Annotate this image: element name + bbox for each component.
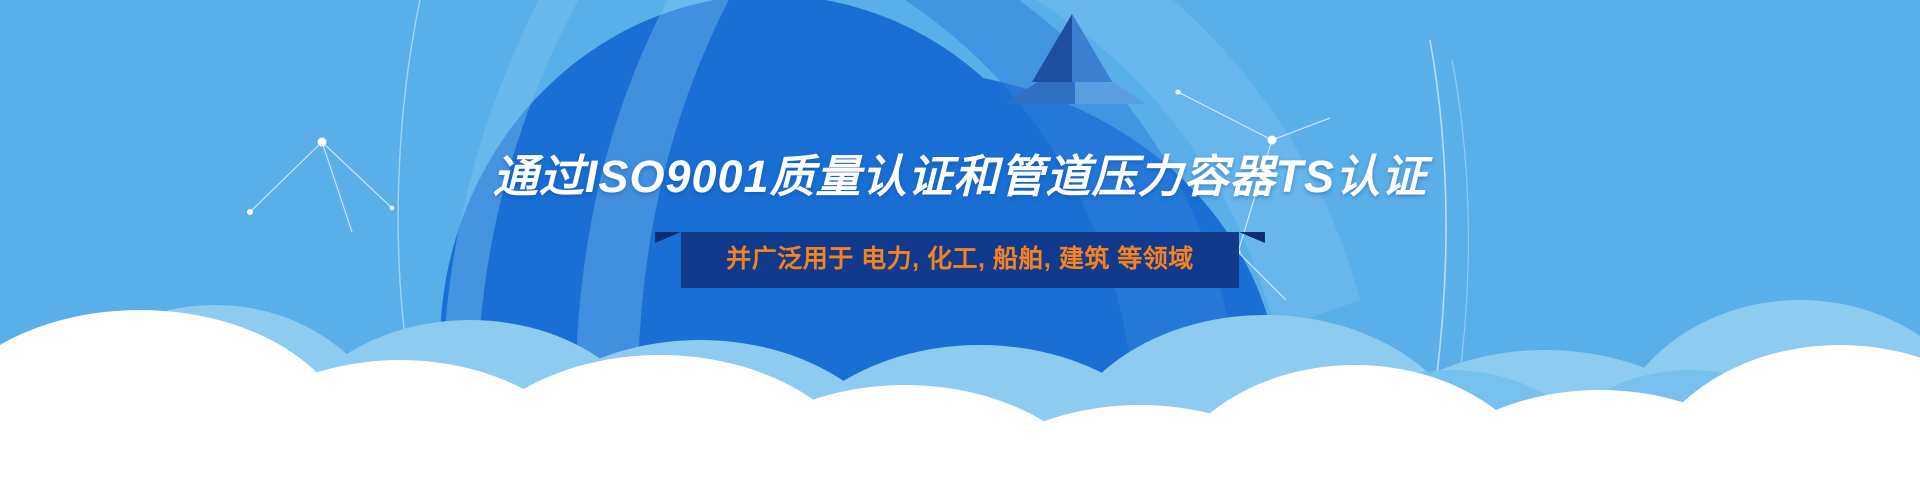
ribbon-text: 并广泛用于 电力, 化工, 船舶, 建筑 等领域 bbox=[726, 245, 1194, 273]
ribbon-fold-left-icon bbox=[655, 232, 681, 243]
ribbon-container: 并广泛用于 电力, 化工, 船舶, 建筑 等领域 bbox=[0, 232, 1920, 288]
promotional-banner: 通过ISO9001质量认证和管道压力容器TS认证 并广泛用于 电力, 化工, 船… bbox=[0, 0, 1920, 480]
pyramid-graphic bbox=[1000, 8, 1150, 108]
ribbon-fold-right-icon bbox=[1239, 232, 1265, 243]
subtitle-ribbon: 并广泛用于 电力, 化工, 船舶, 建筑 等领域 bbox=[681, 232, 1239, 288]
